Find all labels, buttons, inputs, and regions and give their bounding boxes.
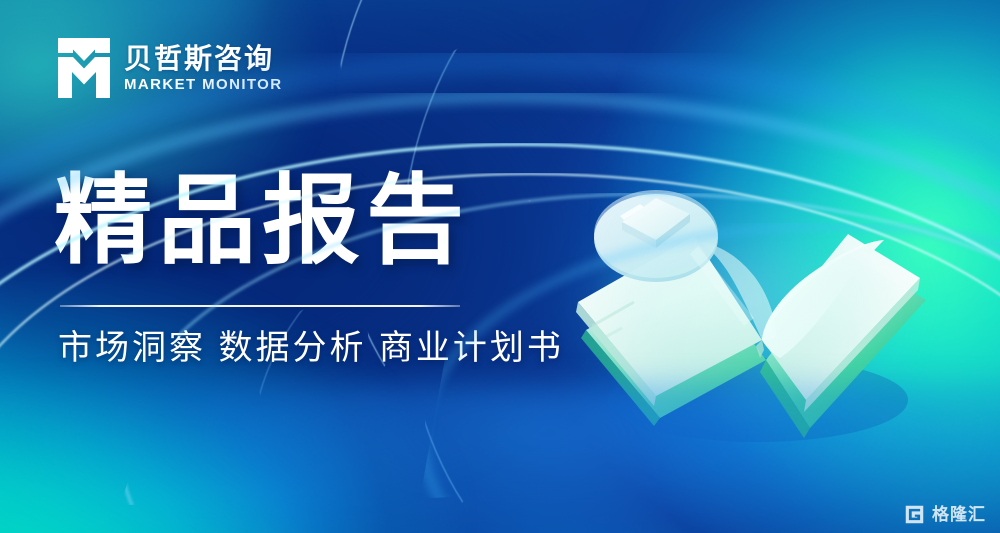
watermark-text: 格隆汇 — [932, 506, 986, 523]
gelonghui-g-logo-icon — [904, 504, 925, 525]
report-promo-banner: 贝哲斯咨询 MARKET MONITOR 精品报告 市场洞察 数据分析 商业计划… — [0, 0, 1000, 533]
vignette-overlay — [0, 0, 1000, 533]
watermark: 格隆汇 — [904, 504, 986, 525]
